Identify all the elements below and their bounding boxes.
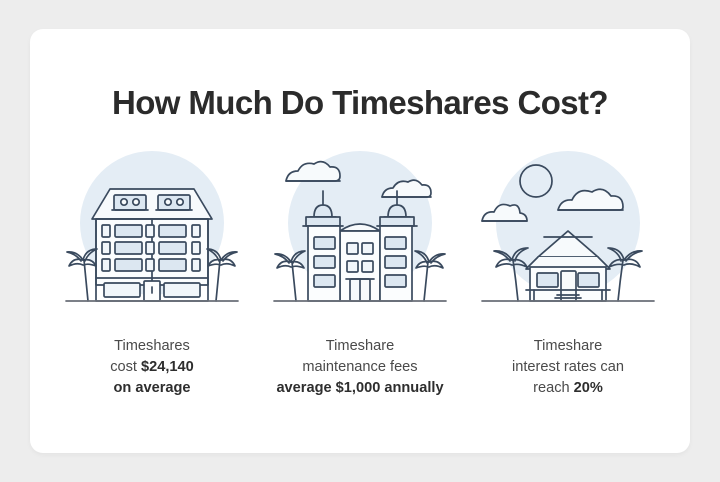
caption-hotel: Timeshares cost $24,140 on average xyxy=(45,336,260,399)
caption-bungalow: Timeshare interest rates can reach 20% xyxy=(461,336,676,399)
timeshare-highrise-hotel-icon xyxy=(52,139,252,319)
caption-line: cost $24,140 xyxy=(45,357,260,378)
caption-line: Timeshares xyxy=(45,336,260,357)
panel-bungalow: Timeshare interest rates can reach 20% xyxy=(464,139,672,439)
caption-line: maintenance fees xyxy=(253,357,468,378)
panel-hotel: Timeshares cost $24,140 on average xyxy=(48,139,256,439)
caption-value: $24,140 xyxy=(141,359,194,375)
caption-line: reach 20% xyxy=(461,378,676,399)
caption-value: 20% xyxy=(574,380,603,396)
caption-resort: Timeshare maintenance fees average $1,00… xyxy=(253,336,468,399)
page-title: How Much Do Timeshares Cost? xyxy=(30,84,690,122)
caption-line: on average xyxy=(45,378,260,399)
panel-resort: Timeshare maintenance fees average $1,00… xyxy=(256,139,464,439)
timeshare-resort-towers-icon xyxy=(260,139,460,319)
infographic-card: How Much Do Timeshares Cost? xyxy=(30,29,690,453)
caption-line: interest rates can xyxy=(461,357,676,378)
panel-row: Timeshares cost $24,140 on average xyxy=(48,139,672,439)
caption-line: Timeshare xyxy=(461,336,676,357)
caption-line: Timeshare xyxy=(253,336,468,357)
infographic-canvas: How Much Do Timeshares Cost? xyxy=(0,0,720,482)
timeshare-beach-bungalow-icon xyxy=(468,139,668,319)
caption-line: average $1,000 annually xyxy=(253,378,468,399)
